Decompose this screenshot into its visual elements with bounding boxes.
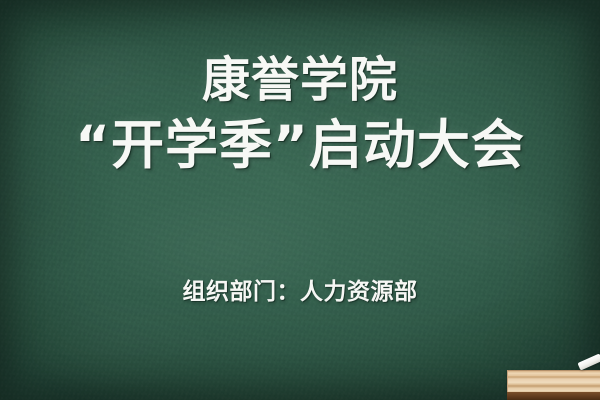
chalk-ledge bbox=[507, 370, 600, 400]
title-line-2: “开学季”启动大会 bbox=[0, 115, 600, 178]
slide-title: 康誉学院 “开学季”启动大会 bbox=[0, 52, 600, 177]
chalk-ledge-front bbox=[507, 392, 600, 400]
presentation-slide: 康誉学院 “开学季”启动大会 组织部门：人力资源部 bbox=[0, 0, 600, 400]
slide-subtitle: 组织部门：人力资源部 bbox=[0, 272, 600, 306]
slide-content: 康誉学院 “开学季”启动大会 组织部门：人力资源部 bbox=[0, 0, 600, 400]
chalk-ledge-top bbox=[507, 370, 600, 393]
title-line-1: 康誉学院 bbox=[0, 52, 600, 109]
